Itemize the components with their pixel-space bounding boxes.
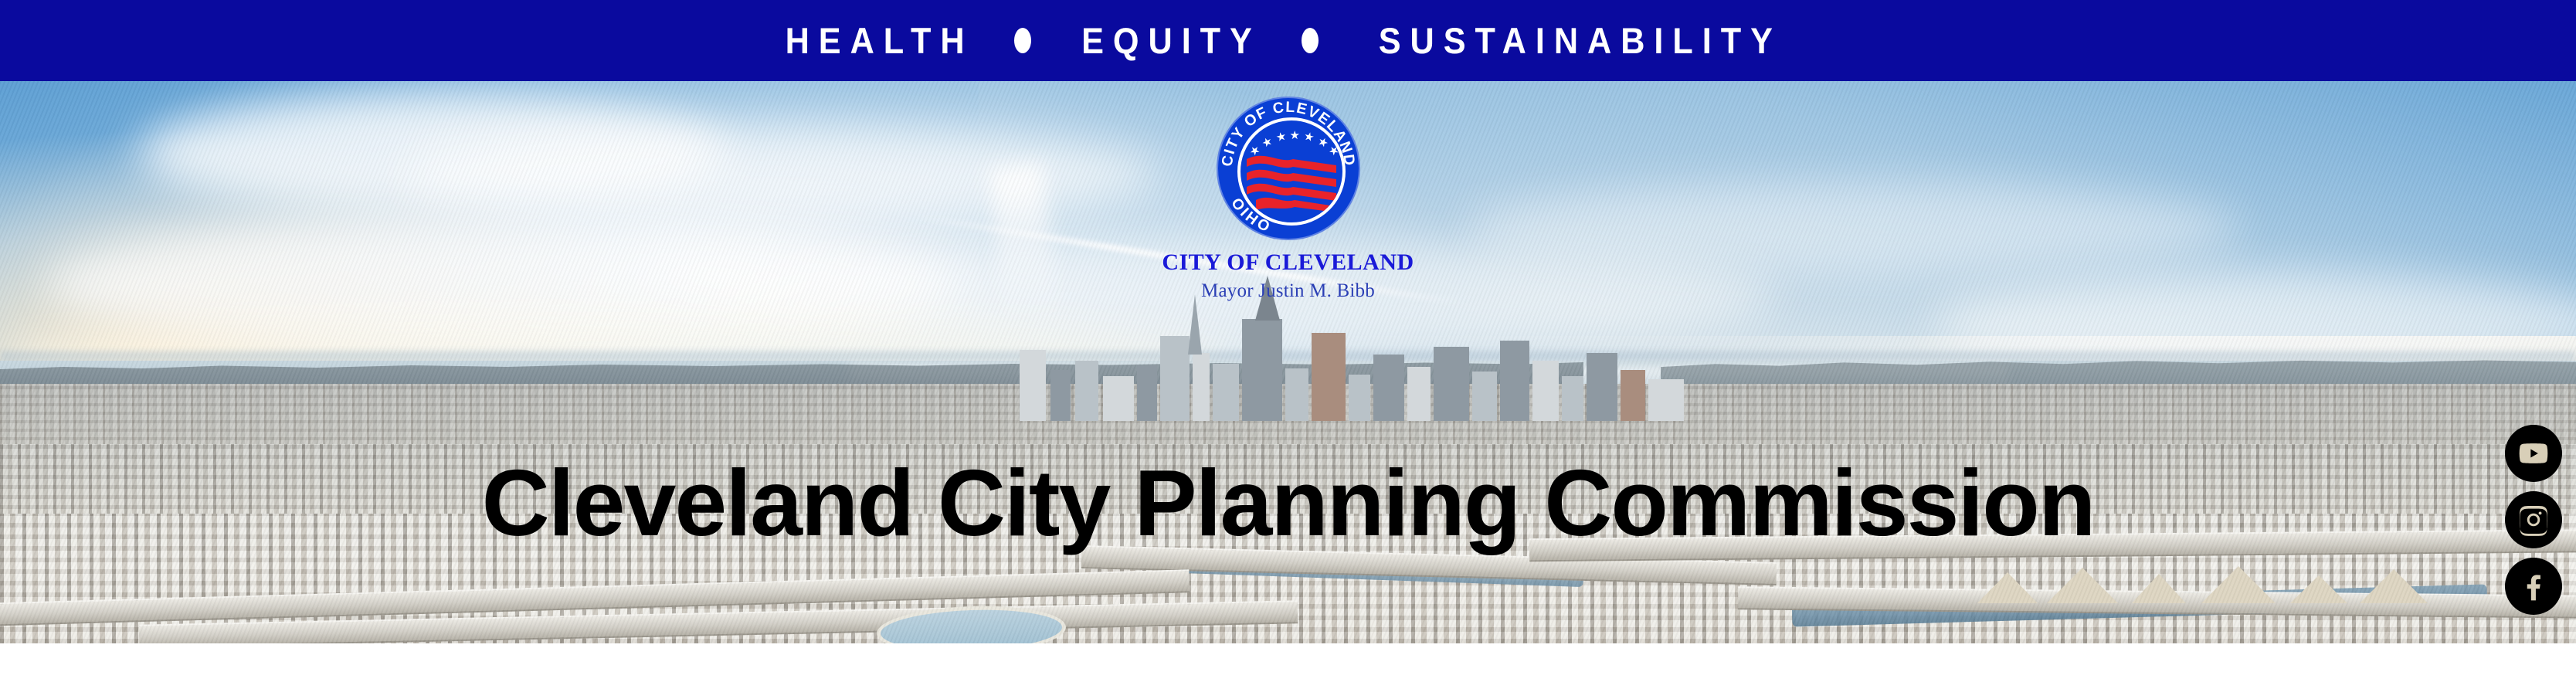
city-logo-block: CITY OF CLEVELAND OHIO ★ ★ ★ ★ ★ ★ ★ <box>0 97 2576 300</box>
youtube-icon[interactable] <box>2505 425 2562 482</box>
terminal-tower <box>1193 353 1210 421</box>
terminal-tower-spire <box>1188 294 1202 355</box>
instagram-icon[interactable] <box>2505 491 2562 548</box>
tagline-separator-dot-1 <box>1014 28 1031 53</box>
tagline-banner: HEALTH EQUITY SUSTAINABILITY <box>0 0 2576 81</box>
building <box>1373 355 1404 421</box>
building <box>1020 350 1046 421</box>
city-name-label: CITY OF CLEVELAND <box>1162 251 1414 274</box>
building <box>1050 370 1071 421</box>
building <box>1587 353 1617 421</box>
building <box>1160 336 1190 421</box>
city-of-cleveland-seal: CITY OF CLEVELAND OHIO ★ ★ ★ ★ ★ ★ ★ <box>1217 97 1360 240</box>
building <box>1434 347 1469 421</box>
building <box>1472 372 1497 421</box>
200-public-square <box>1312 333 1346 421</box>
building <box>1621 370 1645 421</box>
tagline-word-sustainability: SUSTAINABILITY <box>1378 22 1781 59</box>
building <box>1562 376 1583 421</box>
building <box>1500 341 1529 421</box>
key-tower <box>1242 319 1282 421</box>
tagline-word-health: HEALTH <box>785 22 973 59</box>
bottom-white-space <box>0 643 2576 682</box>
tagline-word-equity: EQUITY <box>1081 22 1261 59</box>
page-root: HEALTH EQUITY SUSTAINABILITY <box>0 0 2576 682</box>
building <box>1532 361 1559 421</box>
facebook-icon[interactable] <box>2505 558 2562 615</box>
building <box>1137 365 1157 421</box>
seal-inner-disc: ★ ★ ★ ★ ★ ★ ★ <box>1237 117 1346 226</box>
building <box>1349 375 1370 421</box>
building <box>1648 379 1684 421</box>
seal-waving-flag <box>1245 151 1338 213</box>
tagline-banner-inner: HEALTH EQUITY SUSTAINABILITY <box>777 22 1800 59</box>
building <box>1075 361 1098 421</box>
building <box>1213 364 1239 421</box>
tagline-separator-dot-2 <box>1302 28 1319 53</box>
building <box>1407 367 1431 421</box>
building <box>1103 376 1134 421</box>
social-links[interactable] <box>2505 425 2562 615</box>
page-title: Cleveland City Planning Commission <box>0 456 2576 550</box>
building <box>1285 368 1308 421</box>
mayor-name-label: Mayor Justin M. Bibb <box>1201 281 1375 300</box>
